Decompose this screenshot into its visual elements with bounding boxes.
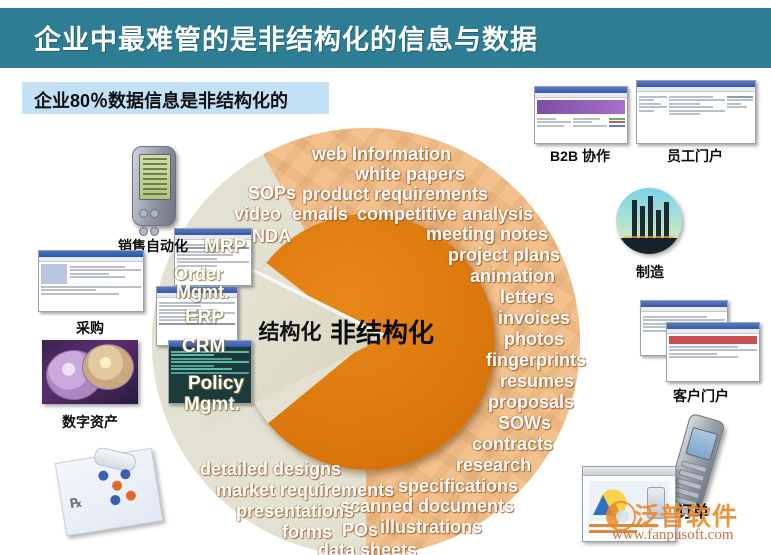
unstructured-keyword: detailed designs [200, 459, 341, 480]
unstructured-keyword: presentations [236, 501, 354, 522]
unstructured-keyword: white papers [355, 164, 465, 185]
watermark: 泛普软件 www.fanpusoft.com [606, 495, 771, 549]
unstructured-keyword: project plans [448, 245, 560, 266]
unstructured-keyword: NDA [252, 226, 291, 247]
unstructured-keyword: video [234, 204, 281, 225]
page-title: 企业中最难管的是非结构化的信息与数据 [34, 18, 538, 57]
unstructured-keyword: fingerprints [486, 350, 586, 371]
web-page-thumbnail-icon [38, 250, 144, 312]
browser-window-secondary-icon [666, 322, 760, 382]
optical-discs-icon [42, 340, 138, 404]
unstructured-keyword: competitive analysis [357, 204, 533, 225]
unstructured-keyword: product requirements [302, 184, 488, 205]
caption-employee-portal: 员工门户 [636, 146, 754, 166]
caption-manufacturing: 制造 [608, 262, 692, 282]
caption-b2b-collaboration: B2B 协作 [528, 146, 632, 166]
unstructured-keyword: scanned documents [340, 496, 514, 517]
unstructured-keyword: research [456, 455, 531, 476]
structured-keyword: ERP [185, 307, 224, 329]
unstructured-keyword: SOPs [248, 183, 296, 204]
caption-digital-assets: 数字资产 [34, 412, 146, 432]
structured-keyword: Mgmt. [184, 394, 240, 416]
unstructured-keyword: letters [500, 287, 554, 308]
pda-device-icon [132, 146, 176, 226]
unstructured-keyword: meeting notes [426, 224, 548, 245]
unstructured-keyword: SOWs [498, 413, 551, 434]
caption-customer-portal: 客户门户 [648, 386, 754, 406]
unstructured-keyword: POs [342, 520, 378, 541]
prescription-molecule-icon: ℞ [55, 448, 163, 536]
unstructured-keyword: resumes [500, 371, 574, 392]
unstructured-keyword: contracts [472, 434, 553, 455]
factory-icon [616, 188, 682, 254]
data-type-pie-chart: 结构化 非结构化 MRPOrderMgmt.ERPCRMPolicyMgmt. … [152, 128, 580, 555]
unstructured-keyword: specifications [398, 476, 518, 497]
structured-keyword: CRM [182, 336, 225, 358]
pie-label-unstructured: 非结构化 [302, 313, 462, 350]
unstructured-keyword: animation [470, 266, 555, 287]
subtitle-label: 企业80％数据信息是非结构化的 [34, 87, 288, 113]
unstructured-keyword: invoices [498, 308, 570, 329]
unstructured-keyword: data sheets [318, 540, 417, 555]
caption-procurement: 采购 [38, 318, 142, 338]
watermark-url: www.fanpusoft.com [612, 527, 734, 544]
unstructured-keyword: emails [292, 204, 348, 225]
portal-window-icon [636, 80, 756, 144]
slide-canvas: 企业中最难管的是非结构化的信息与数据 企业80％数据信息是非结构化的 结构化 非… [0, 0, 771, 555]
structured-keyword: Policy [188, 373, 244, 395]
unstructured-keyword: web Information [312, 144, 451, 165]
unstructured-keyword: illustrations [380, 517, 482, 538]
browser-window-icon [534, 86, 628, 144]
structured-keyword: Mgmt. [176, 282, 229, 303]
unstructured-keyword: photos [504, 329, 564, 350]
unstructured-keyword: proposals [488, 392, 574, 413]
